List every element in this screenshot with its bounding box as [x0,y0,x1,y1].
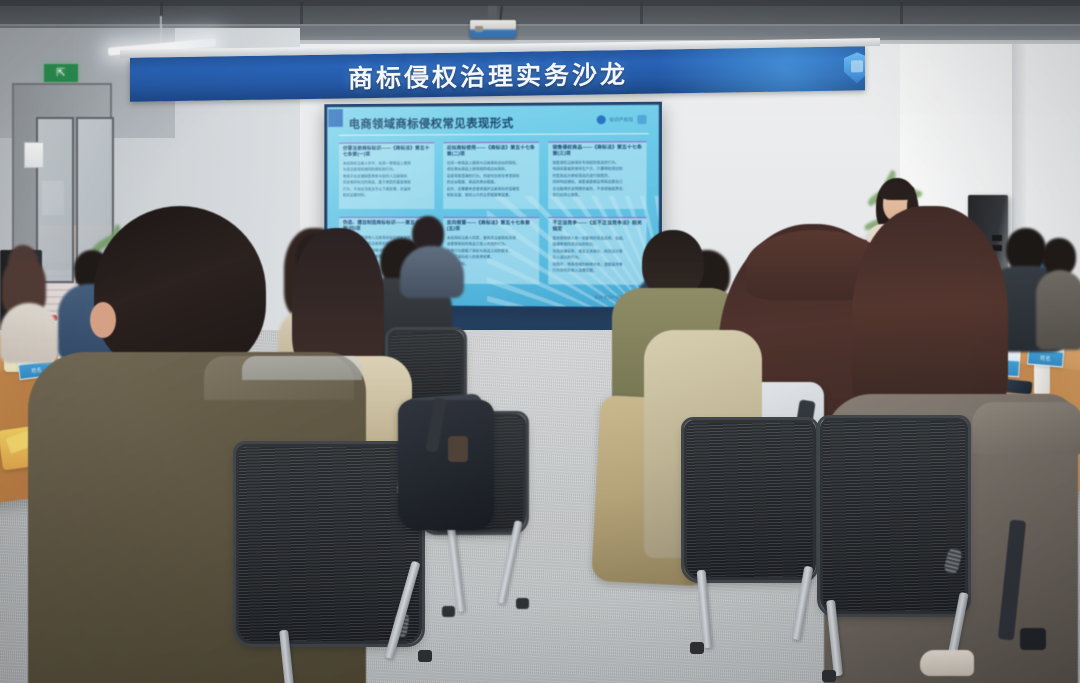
slide-card-body: 销售侵犯注册商标专用权的商品的行为。 电商经营者即使非生产方，只要明知或应知 所… [553,160,643,198]
slide-card: 销售侵权商品——《商标法》第五十七条第(三)项 销售侵犯注册商标专用权的商品的行… [548,141,646,209]
exit-sign: ⇱ [43,63,79,83]
slide-card-line: 电商经营者即使非生产方，只要明知或应知 [553,167,643,173]
backpack-buckle [448,436,468,462]
slide-card-line: 与其注册商标相同的商标的行为。 [343,168,430,174]
slide-card-line: 或在类似商品上使用相同或近似商标， [447,167,536,173]
exit-sign-glyph: ⇱ [56,68,65,79]
shoe [920,650,974,676]
chair-foot [822,670,836,682]
slide-card: 仿冒注册商标标识——《商标法》第五十七条第(一)项 未经商标注册人许可，在同一种… [339,142,434,209]
chair-foot [516,598,529,609]
banner-title: 商标侵权治理实务沙龙 [348,55,628,95]
chair[interactable] [236,444,422,644]
chair-foot [418,650,432,662]
slide-card-line: 电商平台店铺销售带有与权利人注册商标 [343,174,430,180]
chair[interactable] [820,418,968,614]
shield-icon [844,52,865,83]
wall-poster [24,142,44,168]
slide-card-line: 未经商标注册人许可，在同一种商品上使用 [343,161,430,167]
slide-card-line: 同样构成侵权。销售者能够证明商品是自己 [553,180,643,186]
slide-logos: 知识产权局 [596,115,646,124]
slide-card-heading: 销售侵权商品——《商标法》第五十七条第(三)项 [553,145,643,158]
slide-card-line: 完全相同标识的商品，属于典型的直接侵权 [343,180,430,185]
slide-card-line: 在同一种商品上使用与注册商标近似的商标， [447,161,536,167]
bag-buckle [1020,628,1046,650]
slide-card-line: 但仍应停止销售。 [553,193,643,199]
slide-card-heading: 仿冒注册商标标识——《商标法》第五十七条第(一)项 [343,146,430,159]
slide-card-line: 容易导致混淆的行为。判定时应综合考虑商标 [447,174,536,180]
slide-logo-mark-secondary [637,115,646,124]
conference-room-photo: ⇱ 商标侵权治理实务沙龙 知识产权 [0,0,1080,683]
slide-card-line: 销售侵犯注册商标专用权的商品的行为。 [553,160,643,166]
slide-card-line: 的近似程度、商品的类似程度。 [447,180,536,186]
slide-title-bar: 电商领域商标侵权常见表现形式 知识产权局 [339,114,649,136]
slide-logo-text-primary: 知识产权局 [609,117,633,123]
backpack [398,400,494,530]
slide-card-line: 此外，还需要考虑请求保护注册商标的显著性 [447,186,536,192]
projector-icon [470,6,516,38]
slide-card-line: 和知名度、相关公众的注意程度等因素。 [447,193,536,198]
slide-logo-mark-primary [596,115,605,124]
slide-accent-tab [328,109,343,127]
slide-card-line: 所售商品为侵权商品仍进行销售的， [553,173,643,179]
slide-card-body: 在同一种商品上使用与注册商标近似的商标， 或在类似商品上使用相同或近似商标， 容… [447,161,536,199]
slide-card-line: 合法取得并说明提供者的，不承担赔偿责任， [553,186,643,192]
light-wire [160,16,162,44]
slide-title: 电商领域商标侵权常见表现形式 [349,115,514,132]
slide-card: 近似商标使用——《商标法》第五十七条第(二)项 在同一种商品上使用与注册商标近似… [443,142,540,209]
slide-card-heading: 近似商标使用——《商标法》第五十七条第(二)项 [447,146,536,159]
slide-card-line: 相关证据材料。 [343,193,430,198]
chair[interactable] [684,420,816,580]
slide-card-body: 未经商标注册人许可，在同一种商品上使用 与其注册商标相同的商标的行为。 电商平台… [343,161,430,198]
slide-card-line: 行为，平台应当依法予以下架处理，并留存 [343,187,430,192]
chair-foot [442,606,455,617]
chair-foot [690,642,704,654]
